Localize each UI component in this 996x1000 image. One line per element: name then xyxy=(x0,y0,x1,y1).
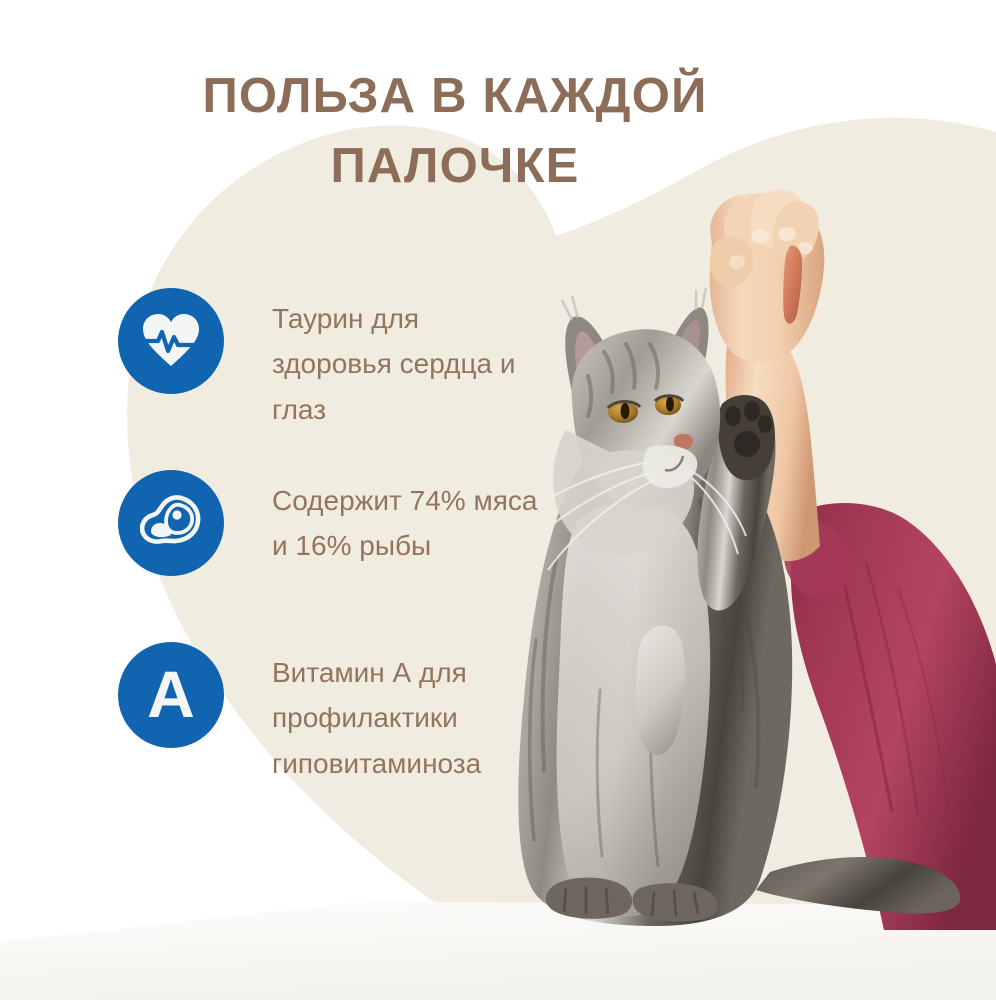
letter-a-icon: A xyxy=(147,661,195,727)
page-title: ПОЛЬЗА В КАЖДОЙ ПАЛОЧКЕ xyxy=(90,62,820,201)
letter-a-badge: A xyxy=(118,642,224,748)
title-line-2: ПАЛОЧКЕ xyxy=(90,132,820,202)
meat-steak-icon xyxy=(140,495,202,551)
heart-pulse-badge xyxy=(118,288,224,394)
feature-item-taurine: Таурин для здоровья сердца и глаз xyxy=(118,288,542,432)
promo-banner: ПОЛЬЗА В КАЖДОЙ ПАЛОЧКЕ Таурин для здоро… xyxy=(0,0,996,1000)
heart-pulse-icon xyxy=(141,312,201,370)
feature-item-vitamin-a: A Витамин А для профилактики гиповитамин… xyxy=(118,642,572,786)
feature-label-taurine: Таурин для здоровья сердца и глаз xyxy=(272,296,542,432)
feature-label-meat: Содержит 74% мяса и 16% рыбы xyxy=(272,478,542,569)
meat-steak-badge xyxy=(118,470,224,576)
title-line-1: ПОЛЬЗА В КАЖДОЙ xyxy=(90,62,820,132)
feature-label-vitamin-a: Витамин А для профилактики гиповитаминоз… xyxy=(272,650,572,786)
feature-item-meat: Содержит 74% мяса и 16% рыбы xyxy=(118,470,542,576)
